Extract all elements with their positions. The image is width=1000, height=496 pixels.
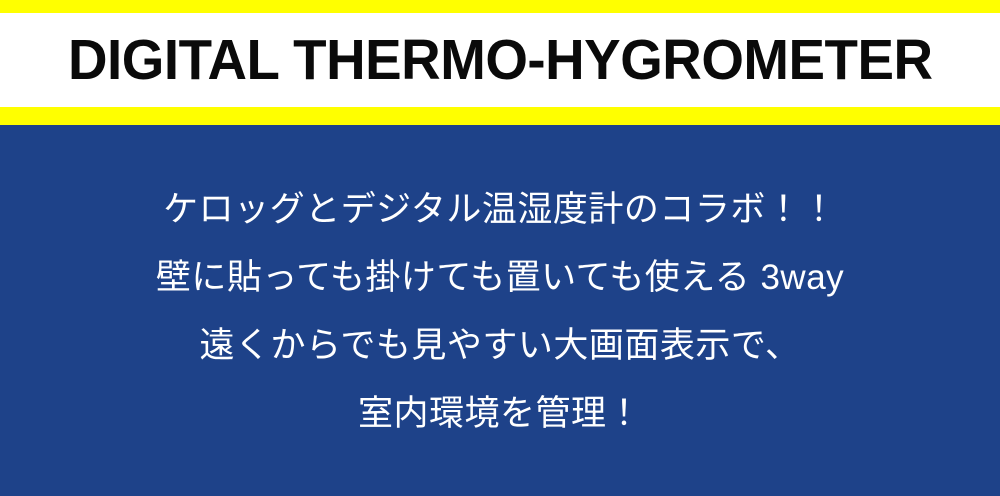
description-line-3: 遠くからでも見やすい大画面表示で、 xyxy=(199,311,800,379)
promo-banner: DIGITAL THERMO-HYGROMETER ケロッグとデジタル温湿度計の… xyxy=(0,0,1000,496)
description-line-1: ケロッグとデジタル温湿度計のコラボ！！ xyxy=(163,175,837,243)
description-line-4: 室内環境を管理！ xyxy=(358,379,642,447)
header-band: DIGITAL THERMO-HYGROMETER xyxy=(0,13,1000,107)
description-panel: ケロッグとデジタル温湿度計のコラボ！！ 壁に貼っても掛けても置いても使える 3w… xyxy=(0,125,1000,496)
description-line-2: 壁に貼っても掛けても置いても使える 3way xyxy=(156,243,844,311)
page-title: DIGITAL THERMO-HYGROMETER xyxy=(58,32,942,89)
divider-accent-rule xyxy=(0,107,1000,125)
top-accent-rule xyxy=(0,0,1000,13)
